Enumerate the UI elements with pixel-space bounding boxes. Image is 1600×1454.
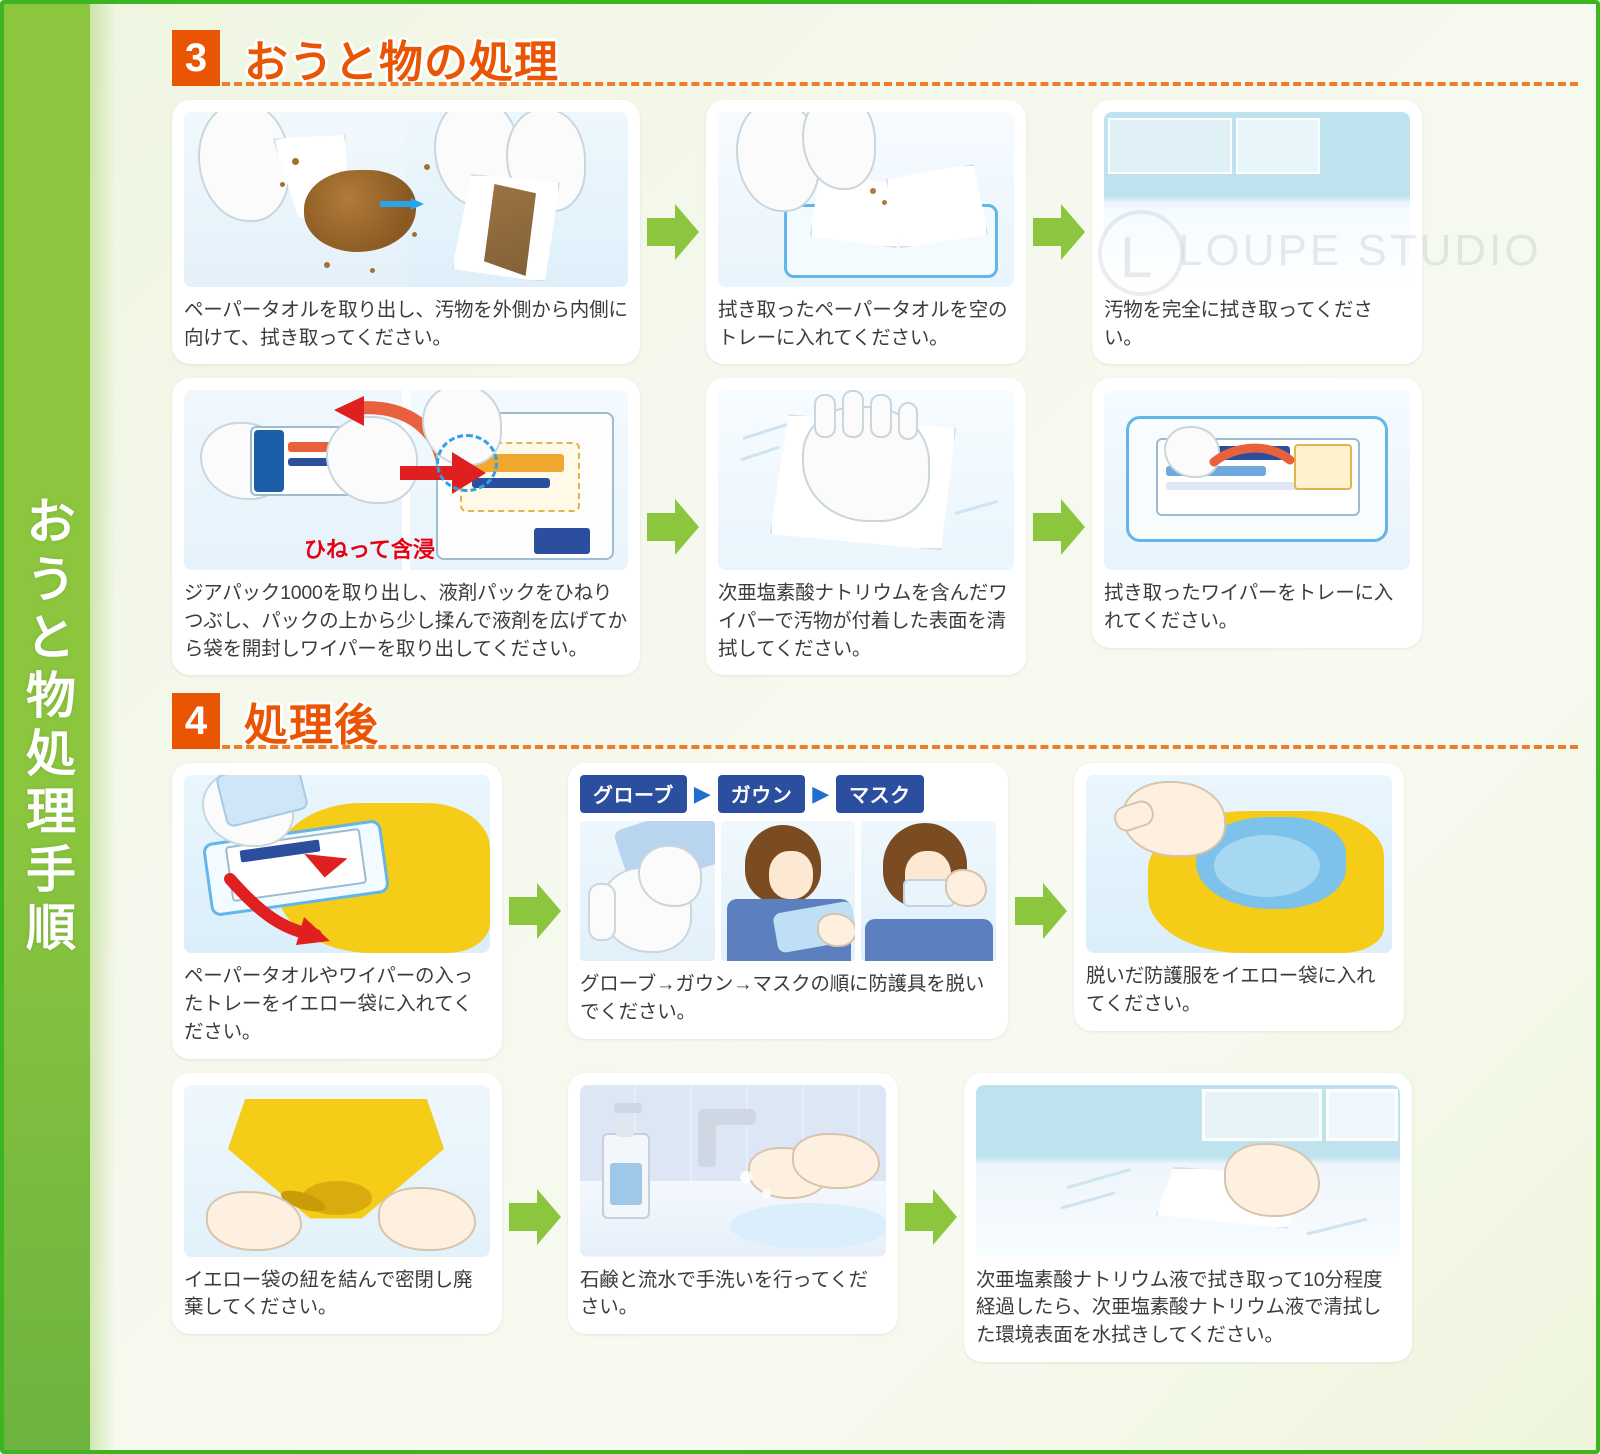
illustration-wipe-surface-naclo (718, 390, 1014, 570)
chip-arrow-icon: ▶ (694, 783, 711, 805)
caption-hand-wash: 石鹸と流水で手洗いを行ってください。 (580, 1267, 886, 1322)
image-hand-wash (580, 1085, 886, 1257)
flow-arrow-icon (502, 1073, 568, 1362)
chip-gown: ガウン (718, 775, 806, 813)
image-tie-yellow-bag (184, 1085, 490, 1257)
illustration-remove-mask (861, 821, 996, 961)
card-wipe-vomit: ペーパータオルを取り出し、汚物を外側から内側に向けて、拭き取ってください。 (172, 100, 640, 364)
card-water-wipe-surface: 次亜塩素酸ナトリウム液で拭き取って10分程度経過したら、次亜塩素酸ナトリウム液で… (964, 1073, 1412, 1362)
card-wipe-completely: 汚物を完全に拭き取ってください。 (1092, 100, 1422, 364)
flow-arrow-icon (1026, 378, 1092, 675)
section-number-3: 3 (172, 30, 220, 86)
caption-towel-into-tray: 拭き取ったペーパータオルを空のトレーに入れてください。 (718, 297, 1014, 352)
image-ppe-into-yellow-bag (1086, 775, 1392, 953)
image-jiapack-1000: ひねって含浸 (184, 390, 628, 570)
card-remove-ppe: グローブ ▶ ガウン ▶ マスク (568, 763, 1008, 1038)
illustration-jiapack-1000: ひねって含浸 (184, 390, 628, 570)
image-remove-glove (580, 821, 715, 961)
illustration-wipe-completely (1104, 112, 1410, 287)
illustration-wipe-vomit (184, 112, 628, 287)
card-tray-into-yellow-bag: ペーパータオルやワイパーの入ったトレーをイエロー袋に入れてください。 (172, 763, 502, 1058)
card-jiapack-1000: ひねって含浸 ジアパック1000を取り出し、液剤パック (172, 378, 640, 675)
caption-wiper-into-tray: 拭き取ったワイパーをトレーに入れてください。 (1104, 580, 1410, 635)
card-wiper-into-tray: 拭き取ったワイパーをトレーに入れてください。 (1092, 378, 1422, 647)
caption-wipe-vomit: ペーパータオルを取り出し、汚物を外側から内側に向けて、拭き取ってください。 (184, 297, 628, 352)
caption-water-wipe-surface: 次亜塩素酸ナトリウム液で拭き取って10分程度経過したら、次亜塩素酸ナトリウム液で… (976, 1267, 1400, 1350)
image-wipe-vomit (184, 112, 628, 287)
section-title-3: おうと物の処理 (244, 26, 559, 90)
card-tie-yellow-bag: イエロー袋の紐を結んで密閉し廃棄してください。 (172, 1073, 502, 1334)
section-header-4: 4 処理後 (172, 689, 1584, 753)
image-towel-into-tray (718, 112, 1014, 287)
sidebar-vertical-title-band: おうと物処理手順 (4, 4, 90, 1450)
label-hinette-ganshin: ひねって含浸 (304, 532, 435, 564)
ppe-images (580, 821, 996, 961)
illustration-hand-wash (580, 1085, 886, 1257)
step-row-4-1: ペーパータオルやワイパーの入ったトレーをイエロー袋に入れてください。 グローブ … (172, 763, 1584, 1058)
image-tray-into-yellow-bag (184, 775, 490, 953)
image-water-wipe-surface (976, 1085, 1400, 1257)
sidebar-fade (90, 4, 116, 1450)
caption-tray-into-yellow-bag: ペーパータオルやワイパーの入ったトレーをイエロー袋に入れてください。 (184, 963, 490, 1046)
image-remove-mask (861, 821, 996, 961)
image-remove-gown (721, 821, 856, 961)
flow-arrow-icon (640, 100, 706, 364)
caption-tie-yellow-bag: イエロー袋の紐を結んで密閉し廃棄してください。 (184, 1267, 490, 1322)
section-title-4: 処理後 (244, 689, 379, 753)
step-row-4-2: イエロー袋の紐を結んで密閉し廃棄してください。 (172, 1073, 1584, 1362)
flow-arrow-icon (1026, 100, 1092, 364)
caption-remove-ppe: グローブ→ガウン→マスクの順に防護具を脱いでください。 (580, 971, 996, 1026)
chip-arrow-icon: ▶ (812, 783, 829, 805)
infographic-page: おうと物処理手順 3 おうと物の処理 (0, 0, 1600, 1454)
step-row-3-1: ペーパータオルを取り出し、汚物を外側から内側に向けて、拭き取ってください。 (172, 100, 1584, 364)
illustration-tray-into-yellow-bag (184, 775, 490, 953)
card-ppe-into-yellow-bag: 脱いだ防護服をイエロー袋に入れてください。 (1074, 763, 1404, 1030)
illustration-ppe-into-yellow-bag (1086, 775, 1392, 953)
sidebar-title-text: おうと物処理手順 (22, 495, 72, 959)
section-rule-4 (222, 745, 1578, 749)
flow-arrow-icon (640, 378, 706, 675)
section-number-4: 4 (172, 693, 220, 749)
ppe-order-chips: グローブ ▶ ガウン ▶ マスク (580, 775, 996, 813)
caption-wipe-surface-naclo: 次亜塩素酸ナトリウムを含んだワイパーで汚物が付着した表面を清拭してください。 (718, 580, 1014, 663)
card-towel-into-tray: 拭き取ったペーパータオルを空のトレーに入れてください。 (706, 100, 1026, 364)
caption-wipe-completely: 汚物を完全に拭き取ってください。 (1104, 297, 1410, 352)
card-wipe-surface-naclo: 次亜塩素酸ナトリウムを含んだワイパーで汚物が付着した表面を清拭してください。 (706, 378, 1026, 675)
illustration-water-wipe-surface (976, 1085, 1400, 1257)
step-row-3-2: ひねって含浸 ジアパック1000を取り出し、液剤パック (172, 378, 1584, 675)
flow-arrow-icon (898, 1073, 964, 1362)
caption-ppe-into-yellow-bag: 脱いだ防護服をイエロー袋に入れてください。 (1086, 963, 1392, 1018)
illustration-remove-gown (721, 821, 856, 961)
illustration-remove-glove (580, 821, 715, 961)
image-wipe-completely (1104, 112, 1410, 287)
flow-arrow-icon (502, 763, 568, 1058)
chip-glove: グローブ (580, 775, 687, 813)
illustration-wiper-into-tray (1104, 390, 1410, 570)
illustration-tie-yellow-bag (184, 1085, 490, 1257)
content-area: 3 おうと物の処理 (116, 4, 1600, 1454)
section-header-3: 3 おうと物の処理 (172, 26, 1584, 90)
flow-arrow-icon (1008, 763, 1074, 1058)
section-rule-3 (222, 82, 1578, 86)
card-hand-wash: 石鹸と流水で手洗いを行ってください。 (568, 1073, 898, 1334)
image-wipe-surface-naclo (718, 390, 1014, 570)
chip-mask: マスク (836, 775, 924, 813)
illustration-towel-into-tray (718, 112, 1014, 287)
image-wiper-into-tray (1104, 390, 1410, 570)
caption-jiapack-1000: ジアパック1000を取り出し、液剤パックをひねりつぶし、パックの上から少し揉んで… (184, 580, 628, 663)
